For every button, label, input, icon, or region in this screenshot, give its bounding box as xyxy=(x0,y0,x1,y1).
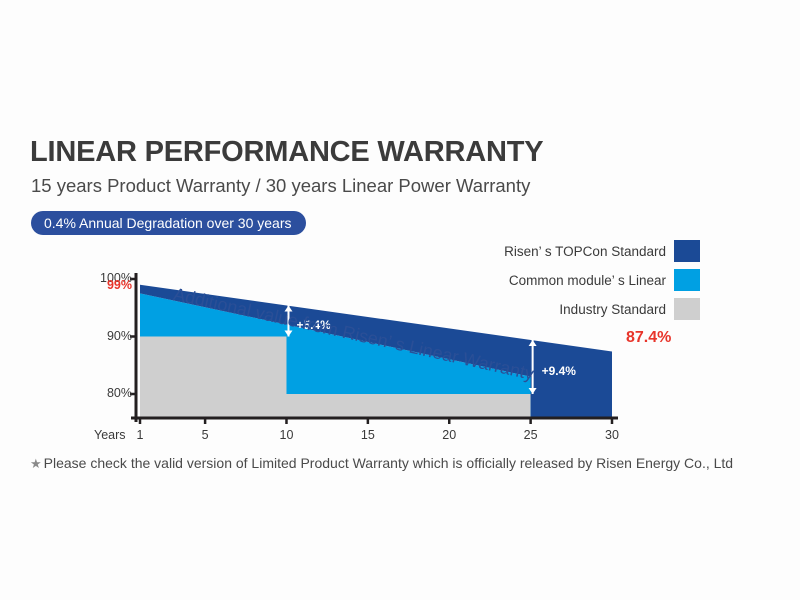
star-icon: ★ xyxy=(30,456,42,471)
legend-item-risen-topcon: Risen’ s TOPCon Standard xyxy=(430,240,700,262)
x-tick-label-5: 5 xyxy=(185,428,225,442)
y-tick-label-80: 80% xyxy=(88,386,132,400)
y-tick-label-90: 90% xyxy=(88,329,132,343)
page-subtitle: 15 years Product Warranty / 30 years Lin… xyxy=(31,175,530,197)
footnote: ★Please check the valid version of Limit… xyxy=(30,455,733,472)
legend-swatch-industry-standard xyxy=(674,298,700,320)
x-tick-label-25: 25 xyxy=(511,428,551,442)
annotation-end-value: 87.4% xyxy=(626,329,671,347)
x-axis-title: Years xyxy=(94,428,126,442)
warranty-infographic: LINEAR PERFORMANCE WARRANTY 15 years Pro… xyxy=(0,0,800,600)
x-tick-label-30: 30 xyxy=(592,428,632,442)
footnote-text: Please check the valid version of Limite… xyxy=(44,455,733,471)
warranty-chart xyxy=(50,262,660,442)
legend-swatch-common-module xyxy=(674,269,700,291)
y-tick-label-highlight: 99% xyxy=(88,278,132,292)
chart-canvas xyxy=(50,262,660,442)
x-tick-label-15: 15 xyxy=(348,428,388,442)
x-tick-label-20: 20 xyxy=(429,428,469,442)
x-tick-label-10: 10 xyxy=(266,428,306,442)
status-badge: 0.4% Annual Degradation over 30 years xyxy=(31,211,306,235)
annotation-gain-year-25: +9.4% xyxy=(542,364,576,378)
legend-swatch-risen-topcon xyxy=(674,240,700,262)
x-tick-label-1: 1 xyxy=(120,428,160,442)
legend-label-risen-topcon: Risen’ s TOPCon Standard xyxy=(504,244,666,259)
page-title: LINEAR PERFORMANCE WARRANTY xyxy=(30,136,543,169)
